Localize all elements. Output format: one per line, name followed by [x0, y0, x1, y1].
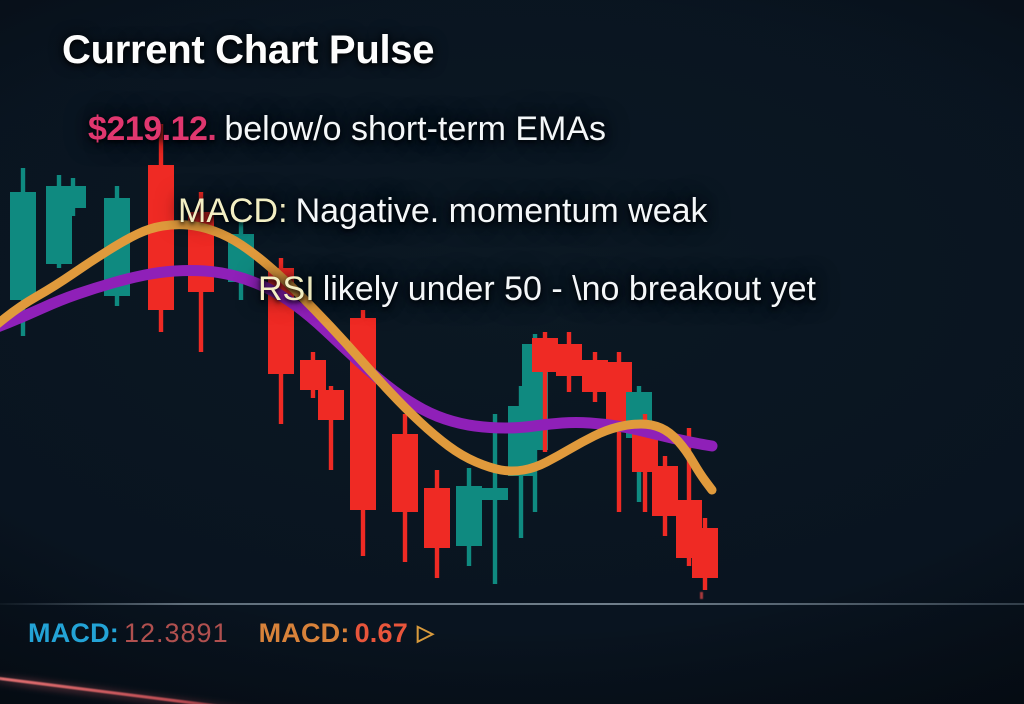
candle-body — [582, 360, 608, 392]
pulse-line-rsi: RSIlikely under 50 - \no breakout yet — [258, 270, 816, 309]
indicator-readouts: MACD: 12.3891 MACD: 0.67 ▷ — [28, 618, 434, 649]
screenshot-root: Current Chart Pulse $219.12.below/o shor… — [0, 0, 1024, 704]
candle-body — [692, 528, 718, 578]
candle-body — [60, 186, 86, 208]
rsi-label: RSI — [258, 270, 315, 308]
readout-label: MACD: — [259, 618, 350, 649]
candle-body — [482, 488, 508, 500]
candlestick-chart — [0, 0, 1024, 704]
rsi-description: likely under 50 - \no breakout yet — [323, 270, 816, 308]
candle-body — [424, 488, 450, 548]
candle-body — [148, 165, 174, 310]
bottom-divider — [0, 603, 1024, 605]
pulse-line-price: $219.12.below/o short-term EMAs — [88, 110, 606, 149]
readout-value: 0.67 — [355, 618, 408, 649]
page-title: Current Chart Pulse — [62, 28, 434, 73]
readout-macd-secondary: MACD: 0.67 ▷ — [259, 618, 434, 649]
pulse-line-macd: MACD:Nagative. momentum weak — [178, 192, 708, 231]
candle-body — [556, 344, 582, 376]
readout-value: 12.3891 — [124, 618, 229, 649]
candle-body — [652, 466, 678, 516]
readout-macd-primary: MACD: 12.3891 — [28, 618, 229, 649]
macd-description: Nagative. momentum weak — [296, 192, 708, 230]
candle-body — [318, 390, 344, 420]
candle-body — [300, 360, 326, 390]
screen-speck — [700, 592, 703, 599]
candle-body — [456, 486, 482, 546]
candle-body — [392, 434, 418, 512]
candle-body — [532, 338, 558, 372]
readout-label: MACD: — [28, 618, 119, 649]
macd-label: MACD: — [178, 192, 288, 230]
candle-body — [10, 192, 36, 300]
price-value: $219.12. — [88, 110, 216, 148]
price-description: below/o short-term EMAs — [224, 110, 606, 148]
play-triangle-icon[interactable]: ▷ — [417, 620, 434, 646]
